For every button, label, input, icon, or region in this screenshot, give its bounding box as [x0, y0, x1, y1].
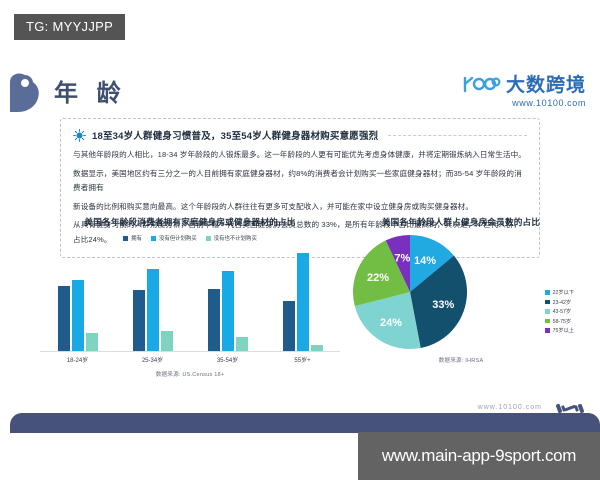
pie-chart-svg: 14%33%24%22%7%	[348, 234, 480, 354]
brand-name: 大数跨境	[506, 70, 586, 97]
watermark-banner: www.main-app-9sport.com	[358, 432, 600, 480]
pie-legend-item: 75岁以上	[545, 327, 574, 334]
headline-text: 18至34岁人群健身习惯普及，35至54岁人群健身器材购买意愿强烈	[92, 128, 378, 142]
legend-label: 拥有	[131, 234, 142, 242]
paragraph-3: 新设备的比例和购买意向最高。这个年龄段的人群往往有更多可支配收入，并可能在家中设…	[73, 200, 527, 215]
pie-chart-source: 数据来源: IHRSA	[330, 356, 592, 364]
legend-swatch-icon	[123, 236, 128, 241]
flexed-bicep-icon	[4, 68, 56, 120]
bar	[133, 290, 145, 351]
bar-xaxis-label: 18-24岁	[40, 355, 115, 364]
bar-group	[283, 253, 323, 351]
pie-chart-title: 美国各年龄段人群占健身房会员数的占比	[330, 216, 592, 228]
legend-swatch-icon	[545, 319, 550, 324]
legend-swatch-icon	[206, 236, 211, 241]
headline-divider	[388, 135, 527, 136]
sun-icon	[73, 129, 86, 142]
bar-chart-xaxis: 18-24岁25-34岁35-54岁55岁+	[40, 355, 340, 364]
legend-label: 22岁以下	[553, 289, 574, 296]
legend-swatch-icon	[545, 309, 550, 314]
bar	[283, 301, 295, 351]
legend-label: 没有也不计划购买	[214, 234, 257, 242]
legend-swatch-icon	[545, 328, 550, 333]
10100-logo-icon	[462, 74, 502, 94]
pie-chart-plot: 14%33%24%22%7% 22岁以下23-42岁43-57岁58-75岁75…	[330, 234, 592, 354]
legend-label: 58-75岁	[553, 318, 571, 325]
bar-xaxis-label: 35-54岁	[190, 355, 265, 364]
pie-slice-value-label: 22%	[367, 272, 389, 284]
watermark-text: www.main-app-9sport.com	[382, 446, 576, 466]
headline-row: 18至34岁人群健身习惯普及，35至54岁人群健身器材购买意愿强烈	[73, 128, 527, 142]
pie-slice-value-label: 33%	[432, 299, 454, 311]
bar	[147, 269, 159, 351]
paragraph-2: 数据显示，美国地区约有三分之一的人目前拥有家庭健身器材，约8%的消费者会计划购买…	[73, 167, 527, 196]
slide-footer-url: www.10100.com	[478, 404, 542, 411]
bar	[297, 253, 309, 351]
legend-swatch-icon	[545, 290, 550, 295]
bar-legend-item: 没有也不计划购买	[206, 234, 257, 242]
pie-slice-value-label: 14%	[414, 255, 436, 267]
bar	[72, 280, 84, 351]
legend-label: 75岁以上	[553, 327, 574, 334]
slide-canvas: 年 龄 大数跨境 www.10100.com 18至34岁人群健身习惯普及，35…	[0, 48, 600, 433]
legend-label: 23-42岁	[553, 299, 571, 306]
brand-logo: 大数跨境 www.10100.com	[462, 70, 586, 108]
pie-chart-legend: 22岁以下23-42岁43-57岁58-75岁75岁以上	[545, 289, 574, 337]
footer-band	[10, 413, 600, 433]
brand-url: www.10100.com	[462, 98, 586, 108]
legend-label: 没有但计划购买	[159, 234, 197, 242]
bar-xaxis-label: 25-34岁	[115, 355, 190, 364]
bar-legend-item: 拥有	[123, 234, 142, 242]
bar	[236, 337, 248, 351]
bar-chart-source: 数据来源: US.Census 18+	[40, 370, 340, 378]
pie-legend-item: 58-75岁	[545, 318, 574, 325]
pie-slice-value-label: 7%	[394, 253, 410, 265]
bar-legend-item: 没有但计划购买	[151, 234, 197, 242]
bar-chart-legend: 拥有没有但计划购买没有也不计划购买	[40, 234, 340, 242]
pie-legend-item: 23-42岁	[545, 299, 574, 306]
bar	[86, 333, 98, 351]
pie-legend-item: 43-57岁	[545, 308, 574, 315]
legend-swatch-icon	[151, 236, 156, 241]
bar-chart: 美国各年龄段消费者拥有家庭健身房或健身器材的占比 拥有没有但计划购买没有也不计划…	[40, 216, 340, 378]
pie-chart: 美国各年龄段人群占健身房会员数的占比 14%33%24%22%7% 22岁以下2…	[330, 216, 592, 364]
bar-group	[58, 280, 98, 351]
bar-group	[208, 271, 248, 351]
legend-swatch-icon	[545, 300, 550, 305]
pie-legend-item: 22岁以下	[545, 289, 574, 296]
bar-group	[133, 269, 173, 351]
bar	[208, 289, 220, 351]
bar	[311, 345, 323, 351]
bar	[161, 331, 173, 351]
pie-slice-value-label: 24%	[380, 317, 402, 329]
bar	[58, 286, 70, 351]
charts-area: 美国各年龄段消费者拥有家庭健身房或健身器材的占比 拥有没有但计划购买没有也不计划…	[0, 216, 600, 391]
legend-label: 43-57岁	[553, 308, 571, 315]
bar-chart-title: 美国各年龄段消费者拥有家庭健身房或健身器材的占比	[40, 216, 340, 228]
paragraph-1: 与其他年龄段的人相比，18-34 岁年龄段的人锻炼最多。这一年龄段的人更有可能优…	[73, 148, 527, 163]
bar-xaxis-label: 55岁+	[265, 355, 340, 364]
page-title: 年 龄	[54, 73, 127, 108]
bar	[222, 271, 234, 351]
tg-tag: TG: MYYJJPP	[14, 14, 125, 40]
bar-chart-plot	[40, 247, 340, 352]
